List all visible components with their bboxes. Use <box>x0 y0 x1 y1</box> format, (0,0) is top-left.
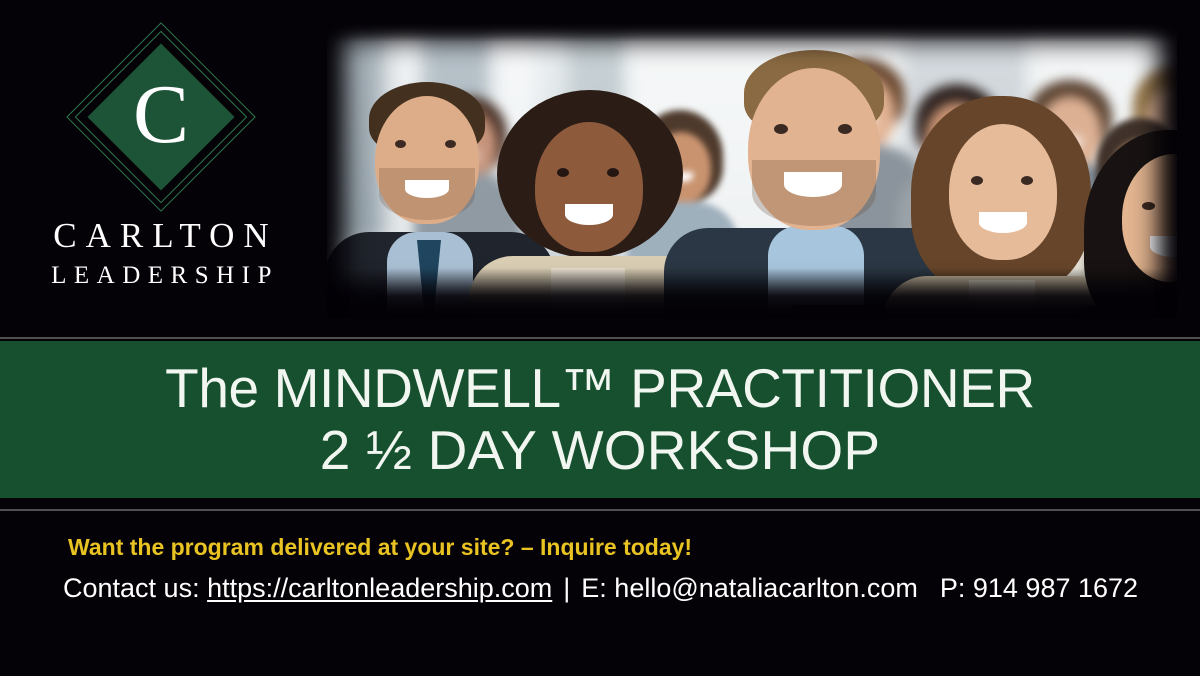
workshop-flyer: C CARLTON LEADERSHIP <box>0 0 1200 676</box>
contact-details: Contact us: https://carltonleadership.co… <box>63 573 1138 604</box>
brand-name: CARLTON <box>44 216 277 256</box>
divider-top <box>0 337 1200 339</box>
title-banner: The MINDWELL™ PRACTITIONER 2 ½ DAY WORKS… <box>0 341 1200 498</box>
brand-logo: C CARLTON LEADERSHIP <box>0 14 322 324</box>
hero-photo <box>327 22 1177 318</box>
contact-label: Contact us: <box>63 573 200 604</box>
diamond-logo-icon: C <box>68 24 254 210</box>
contact-separator: | <box>552 573 581 604</box>
banner-title-line2: 2 ½ DAY WORKSHOP <box>320 420 880 482</box>
inquire-callout: Want the program delivered at your site?… <box>68 534 692 561</box>
contact-section: Want the program delivered at your site?… <box>0 512 1200 676</box>
phone-number[interactable]: P: 914 987 1672 <box>918 573 1138 604</box>
logo-letter: C <box>68 24 254 210</box>
website-link[interactable]: https://carltonleadership.com <box>207 573 552 604</box>
header-section: C CARLTON LEADERSHIP <box>0 0 1200 336</box>
email-address[interactable]: E: hello@nataliacarlton.com <box>581 573 918 604</box>
banner-title-line1: The MINDWELL™ PRACTITIONER <box>165 358 1035 420</box>
divider-bottom <box>0 509 1200 511</box>
brand-subtitle: LEADERSHIP <box>43 262 279 290</box>
hero-photo-image <box>327 22 1177 318</box>
